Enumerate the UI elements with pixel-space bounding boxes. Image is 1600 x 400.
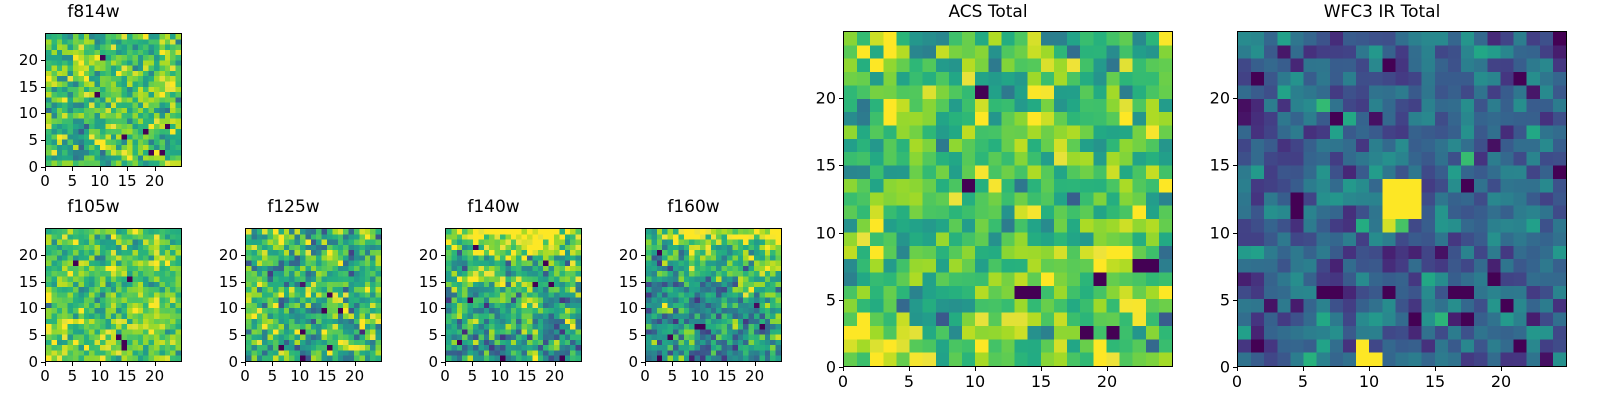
y-tick-mark [641, 362, 645, 363]
panel-f140w: f140w0510152005101520 [405, 0, 582, 400]
y-tick-mark [441, 362, 445, 363]
x-tick-mark [527, 362, 528, 366]
x-tick-label: 0 [40, 367, 50, 385]
panel-title-acs-total: ACS Total [803, 2, 1173, 22]
y-tick-mark [441, 255, 445, 256]
panel-title-f105w: f105w [5, 197, 182, 217]
x-tick-label: 5 [1298, 372, 1308, 391]
heatmap-image-f140w [446, 229, 581, 361]
panel-title-f125w: f125w [205, 197, 382, 217]
x-tick-label: 20 [745, 367, 764, 385]
y-tick-label: 15 [1197, 156, 1230, 175]
x-tick-label: 20 [1491, 372, 1511, 391]
panel-acs-total: ACS Total0510152005101520 [803, 0, 1173, 400]
y-tick-mark [1233, 300, 1237, 301]
x-tick-label: 5 [904, 372, 914, 391]
x-tick-mark [1107, 367, 1108, 371]
x-tick-mark [672, 362, 673, 366]
x-tick-label: 15 [518, 367, 537, 385]
x-tick-mark [555, 362, 556, 366]
x-tick-label: 0 [240, 367, 250, 385]
y-tick-mark [641, 335, 645, 336]
heatmap-image-acs-total [844, 32, 1172, 366]
heatmap-axes-f105w[interactable] [45, 228, 182, 362]
x-tick-mark [1369, 367, 1370, 371]
x-tick-mark [755, 362, 756, 366]
y-tick-label: 0 [1197, 358, 1230, 377]
y-tick-mark [41, 308, 45, 309]
y-tick-label: 5 [1197, 290, 1230, 309]
y-tick-label: 0 [205, 353, 238, 371]
y-tick-mark [839, 367, 843, 368]
heatmap-axes-f160w[interactable] [645, 228, 782, 362]
x-tick-label: 15 [1031, 372, 1051, 391]
y-tick-mark [41, 335, 45, 336]
panel-f125w: f125w0510152005101520 [205, 0, 382, 400]
x-tick-label: 10 [90, 367, 109, 385]
figure-canvas: f814w0510152005101520f105w05101520051015… [0, 0, 1600, 400]
y-tick-mark [1233, 233, 1237, 234]
heatmap-image-f105w [46, 229, 181, 361]
y-tick-label: 10 [405, 299, 438, 317]
y-tick-mark [241, 308, 245, 309]
y-tick-label: 5 [5, 326, 38, 344]
x-tick-mark [45, 362, 46, 366]
x-tick-mark [327, 362, 328, 366]
y-tick-label: 20 [205, 246, 238, 264]
x-tick-label: 0 [838, 372, 848, 391]
y-tick-mark [641, 282, 645, 283]
x-tick-label: 15 [118, 367, 137, 385]
y-tick-mark [41, 255, 45, 256]
x-tick-mark [100, 362, 101, 366]
panel-f105w: f105w0510152005101520 [5, 0, 182, 400]
heatmap-axes-f140w[interactable] [445, 228, 582, 362]
x-tick-label: 10 [290, 367, 309, 385]
y-tick-label: 15 [605, 273, 638, 291]
panel-title-wfc3-ir-total: WFC3 IR Total [1197, 2, 1567, 22]
y-tick-label: 15 [205, 273, 238, 291]
y-tick-label: 10 [5, 299, 38, 317]
y-tick-label: 10 [1197, 223, 1230, 242]
y-tick-label: 5 [205, 326, 238, 344]
y-tick-mark [1233, 98, 1237, 99]
y-tick-mark [839, 300, 843, 301]
x-tick-mark [500, 362, 501, 366]
x-tick-label: 15 [718, 367, 737, 385]
y-tick-mark [1233, 165, 1237, 166]
x-tick-label: 0 [440, 367, 450, 385]
y-tick-mark [641, 308, 645, 309]
panel-title-f140w: f140w [405, 197, 582, 217]
x-tick-mark [272, 362, 273, 366]
y-tick-mark [241, 255, 245, 256]
x-tick-label: 20 [545, 367, 564, 385]
y-tick-mark [839, 98, 843, 99]
heatmap-axes-acs-total[interactable] [843, 31, 1173, 367]
y-tick-mark [839, 233, 843, 234]
y-tick-mark [641, 255, 645, 256]
x-tick-label: 0 [1232, 372, 1242, 391]
panel-f160w: f160w0510152005101520 [605, 0, 782, 400]
x-tick-mark [300, 362, 301, 366]
x-tick-mark [472, 362, 473, 366]
y-tick-mark [839, 165, 843, 166]
x-tick-label: 15 [1425, 372, 1445, 391]
y-tick-label: 20 [5, 246, 38, 264]
y-tick-mark [241, 362, 245, 363]
x-tick-mark [445, 362, 446, 366]
y-tick-mark [41, 362, 45, 363]
y-tick-mark [1233, 367, 1237, 368]
x-tick-label: 10 [965, 372, 985, 391]
heatmap-image-wfc3-ir-total [1238, 32, 1566, 366]
x-tick-mark [127, 362, 128, 366]
y-tick-label: 0 [605, 353, 638, 371]
y-tick-label: 0 [5, 353, 38, 371]
x-tick-mark [700, 362, 701, 366]
y-tick-label: 5 [605, 326, 638, 344]
x-tick-mark [155, 362, 156, 366]
heatmap-axes-wfc3-ir-total[interactable] [1237, 31, 1567, 367]
y-tick-label: 5 [405, 326, 438, 344]
y-tick-mark [441, 308, 445, 309]
y-tick-mark [441, 282, 445, 283]
x-tick-mark [355, 362, 356, 366]
x-tick-mark [843, 367, 844, 371]
y-tick-label: 20 [803, 89, 836, 108]
x-tick-mark [909, 367, 910, 371]
x-tick-label: 15 [318, 367, 337, 385]
x-tick-mark [645, 362, 646, 366]
y-tick-label: 20 [1197, 89, 1230, 108]
y-tick-label: 15 [5, 273, 38, 291]
heatmap-image-f160w [646, 229, 781, 361]
x-tick-label: 5 [468, 367, 478, 385]
y-tick-label: 15 [803, 156, 836, 175]
x-tick-label: 5 [268, 367, 278, 385]
x-tick-mark [245, 362, 246, 366]
x-tick-label: 5 [668, 367, 678, 385]
y-tick-mark [241, 282, 245, 283]
y-tick-label: 0 [405, 353, 438, 371]
x-tick-label: 20 [145, 367, 164, 385]
y-tick-mark [241, 335, 245, 336]
panel-wfc3-ir-total: WFC3 IR Total0510152005101520 [1197, 0, 1567, 400]
x-tick-label: 10 [490, 367, 509, 385]
x-tick-mark [1435, 367, 1436, 371]
x-tick-label: 0 [640, 367, 650, 385]
x-tick-mark [727, 362, 728, 366]
y-tick-label: 5 [803, 290, 836, 309]
x-tick-mark [72, 362, 73, 366]
y-tick-label: 20 [405, 246, 438, 264]
heatmap-image-f125w [246, 229, 381, 361]
y-tick-mark [441, 335, 445, 336]
x-tick-mark [1237, 367, 1238, 371]
y-tick-label: 10 [605, 299, 638, 317]
y-tick-label: 15 [405, 273, 438, 291]
x-tick-mark [1303, 367, 1304, 371]
y-tick-label: 0 [803, 358, 836, 377]
y-tick-label: 10 [205, 299, 238, 317]
x-tick-label: 5 [68, 367, 78, 385]
x-tick-label: 20 [1097, 372, 1117, 391]
heatmap-axes-f125w[interactable] [245, 228, 382, 362]
x-tick-label: 20 [345, 367, 364, 385]
y-tick-mark [41, 282, 45, 283]
x-tick-label: 10 [1359, 372, 1379, 391]
y-tick-label: 20 [605, 246, 638, 264]
x-tick-mark [1041, 367, 1042, 371]
x-tick-mark [975, 367, 976, 371]
x-tick-mark [1501, 367, 1502, 371]
panel-title-f160w: f160w [605, 197, 782, 217]
x-tick-label: 10 [690, 367, 709, 385]
y-tick-label: 10 [803, 223, 836, 242]
